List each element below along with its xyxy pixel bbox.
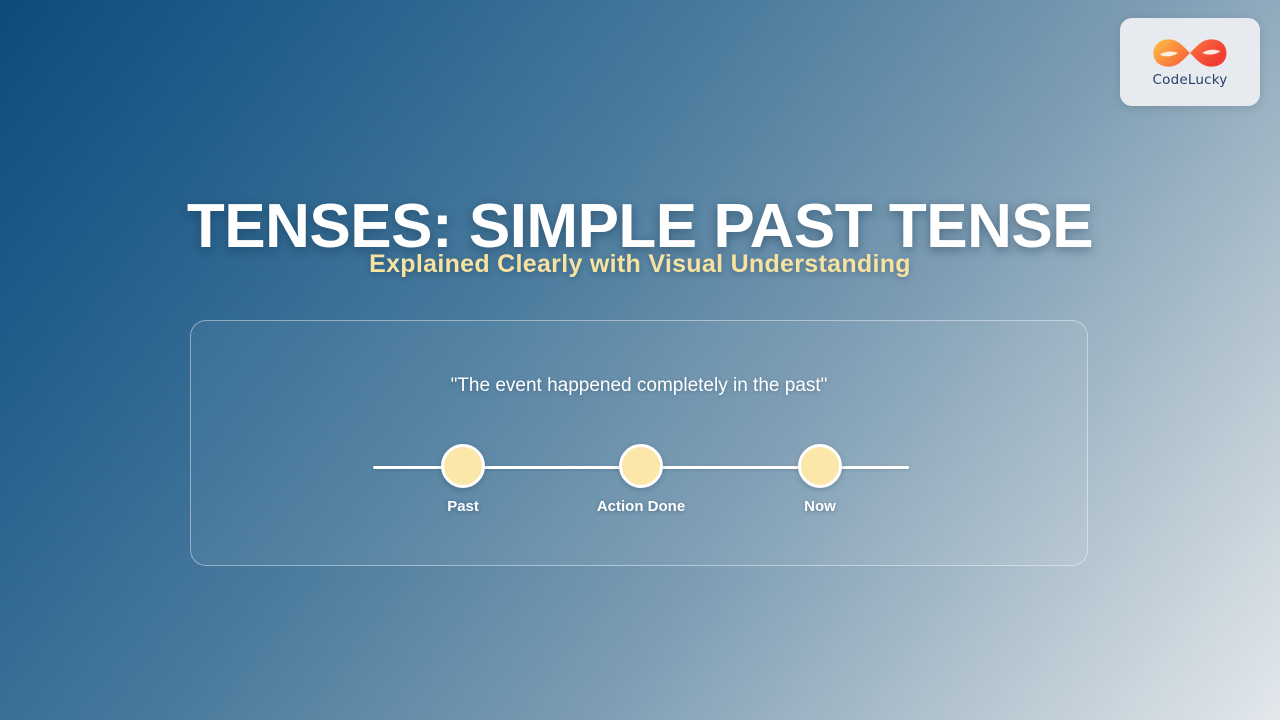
timeline-node-label: Now (775, 497, 865, 516)
brand-logo-badge[interactable]: CodeLucky (1120, 18, 1260, 106)
timeline-dot-icon (441, 444, 485, 488)
timeline-dot-icon (798, 444, 842, 488)
page-subtitle: Explained Clearly with Visual Understand… (0, 248, 1280, 280)
brand-name-label: CodeLucky (1153, 72, 1228, 88)
timeline-diagram: Past Action Done Now (373, 444, 909, 534)
timeline-dot-icon (619, 444, 663, 488)
timeline-node-label: Past (418, 497, 508, 516)
timeline-node-action-done[interactable]: Action Done (596, 444, 686, 516)
timeline-node-now[interactable]: Now (775, 444, 865, 516)
timeline-node-past[interactable]: Past (418, 444, 508, 516)
concept-card: "The event happened completely in the pa… (190, 320, 1088, 566)
slide-root: CodeLucky TENSES: SIMPLE PAST TENSE Expl… (0, 0, 1280, 720)
concept-quote: "The event happened completely in the pa… (191, 373, 1087, 399)
timeline-node-label: Action Done (596, 497, 686, 516)
infinity-leaf-icon (1152, 36, 1228, 70)
